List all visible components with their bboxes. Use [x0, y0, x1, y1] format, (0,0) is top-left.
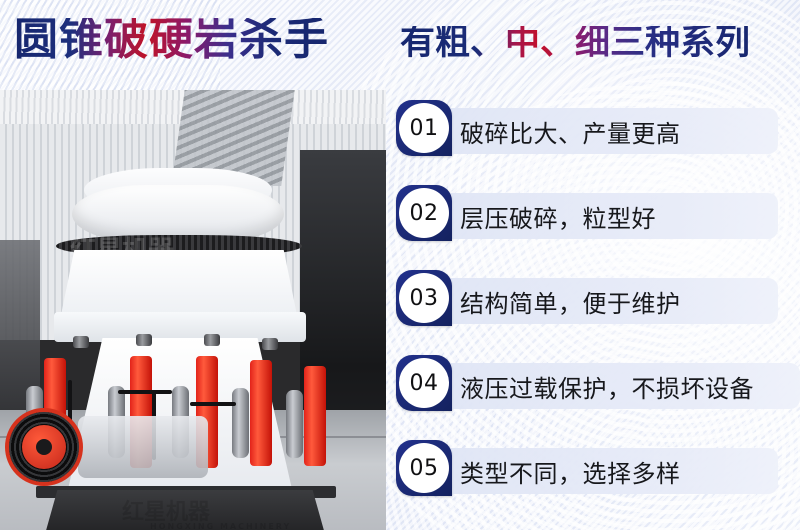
feature-list: 01 破碎比大、产量更高 02 层压破碎，粒型好 03 结构简单，便于维护 04…	[396, 100, 800, 530]
crusher-bolt-cap	[73, 336, 89, 348]
feature-text: 层压破碎，粒型好	[460, 195, 656, 237]
feature-number: 03	[399, 273, 449, 323]
feature-number-badge: 05	[396, 440, 452, 496]
crusher-bolt-cap	[204, 334, 220, 346]
crusher-bolt-cap	[136, 334, 152, 346]
hydraulic-cylinder	[304, 366, 326, 466]
feature-number-badge: 03	[396, 270, 452, 326]
crusher-bolt-cap	[262, 338, 278, 350]
product-photo: 红星机器 红星机器 HONGXING MACHINERY	[0, 90, 386, 530]
feature-text: 破碎比大、产量更高	[460, 110, 681, 152]
hydraulic-hose	[190, 402, 236, 406]
feature-number: 01	[399, 103, 449, 153]
flywheel-center-bolt	[36, 439, 52, 455]
feature-item-05[interactable]: 05 类型不同，选择多样	[396, 440, 778, 502]
crusher-adjust-ring	[60, 250, 298, 320]
feature-item-01[interactable]: 01 破碎比大、产量更高	[396, 100, 778, 162]
feature-text: 类型不同，选择多样	[460, 450, 681, 492]
accumulator	[286, 390, 303, 458]
feature-number-badge: 01	[396, 100, 452, 156]
feature-item-03[interactable]: 03 结构简单，便于维护	[396, 270, 778, 332]
feature-number: 04	[399, 358, 449, 408]
feature-number-badge: 04	[396, 355, 452, 411]
feature-text: 液压过载保护，不损坏设备	[460, 365, 754, 407]
accumulator	[232, 388, 249, 458]
crusher-base-frame	[40, 490, 330, 530]
feature-number: 05	[399, 443, 449, 493]
hydraulic-cylinder	[250, 360, 272, 466]
promo-banner: 圆锥破硬岩杀手 有粗、中、细三种系列	[0, 0, 800, 530]
feature-item-02[interactable]: 02 层压破碎，粒型好	[396, 185, 778, 247]
feature-item-04[interactable]: 04 液压过载保护，不损坏设备	[396, 355, 778, 417]
feature-number-badge: 02	[396, 185, 452, 241]
crusher-drive-housing	[78, 416, 208, 478]
page-title: 圆锥破硬岩杀手	[14, 18, 329, 62]
feature-number: 02	[399, 188, 449, 238]
hydraulic-hose	[118, 390, 172, 394]
page-subtitle: 有粗、中、细三种系列	[400, 26, 750, 61]
feature-text: 结构简单，便于维护	[460, 280, 681, 322]
